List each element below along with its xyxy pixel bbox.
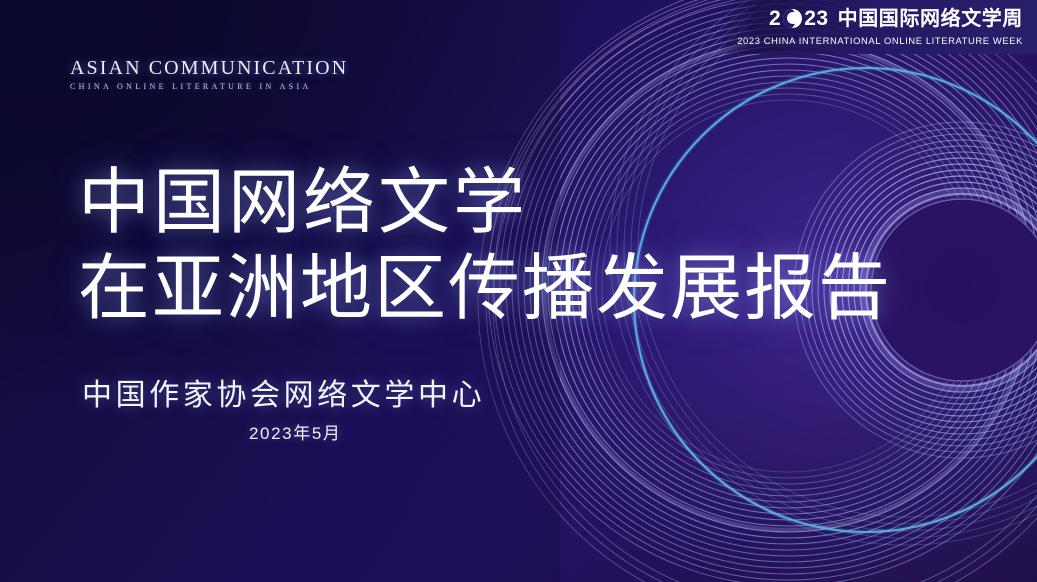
event-year-suffix: 23 (804, 8, 828, 29)
page-title-line-2: 在亚洲地区传播发展报告 (78, 246, 958, 332)
event-name-chinese: 中国国际网络文学周 (838, 9, 1023, 29)
event-badge-primary-row: 2 23 中国国际网络文学周 (737, 7, 1023, 30)
page-title: 中国网络文学 在亚洲地区传播发展报告 (78, 160, 958, 332)
page-title-line-1: 中国网络文学 (78, 160, 958, 246)
event-badge: 2 23 中国国际网络文学周 2023 CHINA INTERNATIONAL … (721, 0, 1037, 54)
event-name-english: 2023 CHINA INTERNATIONAL ONLINE LITERATU… (737, 35, 1023, 46)
event-year: 2 23 (769, 8, 829, 29)
swirl-circle-icon (783, 9, 802, 28)
event-year-prefix: 2 (769, 8, 781, 29)
brand-subtitle: CHINA ONLINE LITERATURE IN ASIA (70, 83, 348, 91)
report-cover-slide: ASIAN COMMUNICATION CHINA ONLINE LITERAT… (0, 0, 1037, 582)
brand-lockup: ASIAN COMMUNICATION CHINA ONLINE LITERAT… (70, 58, 348, 91)
date-label: 2023年5月 (249, 419, 341, 444)
organization-label: 中国作家协会网络文学中心 (82, 370, 485, 414)
brand-title: ASIAN COMMUNICATION (70, 58, 348, 78)
